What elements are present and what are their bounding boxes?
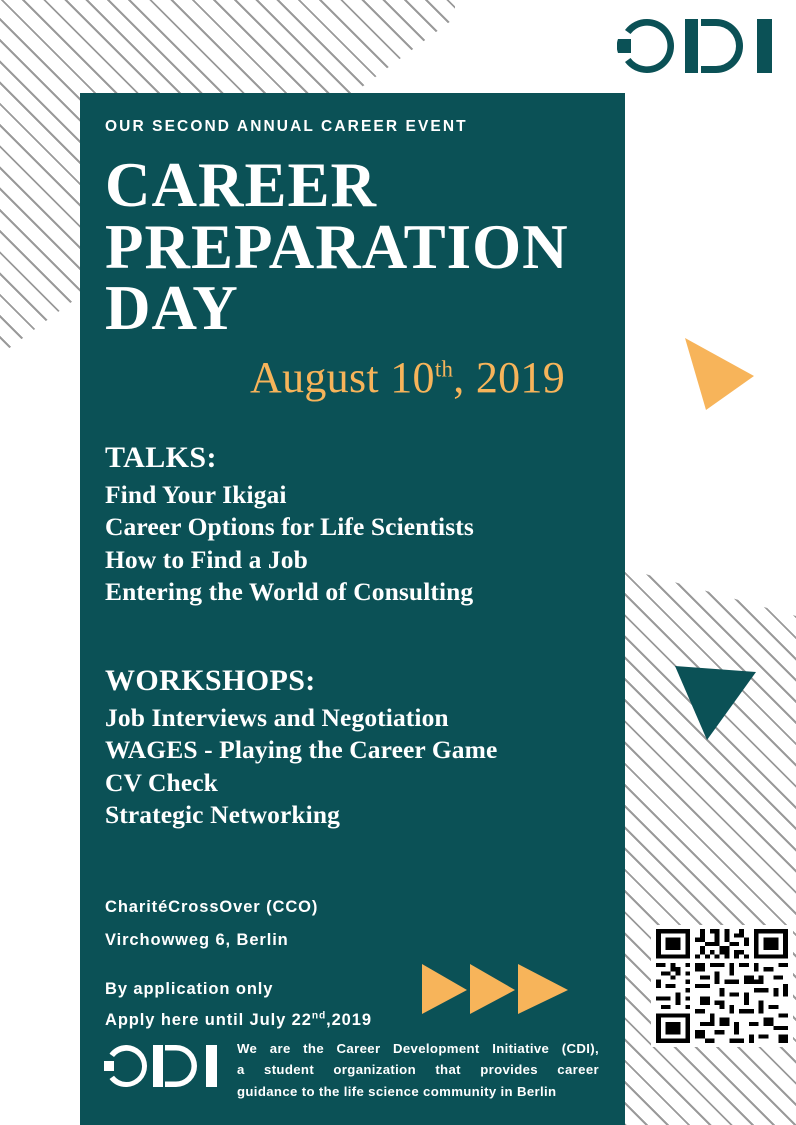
application-deadline-year: ,2019	[326, 1011, 372, 1029]
application-deadline-ordinal: nd	[312, 1011, 326, 1022]
right-arrow-icon	[518, 964, 568, 1014]
cdi-logo-top	[617, 14, 779, 78]
qr-code[interactable]	[651, 925, 793, 1047]
event-date-main: August 10	[250, 353, 435, 402]
right-arrow-icon	[470, 964, 515, 1014]
event-date-year: , 2019	[453, 353, 565, 402]
application-deadline-main: Apply here until July 22	[105, 1011, 312, 1029]
title-line-3: DAY	[105, 278, 625, 340]
event-date-ordinal: th	[435, 356, 453, 381]
talks-item: Find Your Ikigai	[105, 479, 625, 512]
teal-triangle-icon	[674, 664, 756, 740]
application-note: By application only	[105, 974, 372, 1005]
talks-item: How to Find a Job	[105, 544, 625, 577]
footer-line-1: We are the Career Development Initiative…	[237, 1038, 599, 1059]
arrow-icons-group	[422, 962, 574, 1014]
application-deadline: Apply here until July 22nd,2019	[105, 1005, 372, 1036]
workshops-item: Strategic Networking	[105, 799, 625, 832]
workshops-heading: WORKSHOPS:	[105, 664, 625, 699]
page-title: CAREER PREPARATION DAY	[105, 155, 625, 340]
poster-canvas: OUR SECOND ANNUAL CAREER EVENT CAREER PR…	[0, 0, 796, 1125]
footer: We are the Career Development Initiative…	[103, 1038, 613, 1102]
talks-heading: TALKS:	[105, 441, 625, 476]
footer-line-2: a student organization that provides car…	[237, 1059, 599, 1080]
orange-triangle-icon	[682, 336, 754, 410]
venue-address: Virchowweg 6, Berlin	[105, 924, 318, 957]
workshops-section: WORKSHOPS: Job Interviews and Negotiatio…	[105, 664, 625, 832]
kicker-text: OUR SECOND ANNUAL CAREER EVENT	[105, 118, 468, 136]
venue-name: CharitéCrossOver (CCO)	[105, 891, 318, 924]
workshops-item: CV Check	[105, 767, 625, 800]
event-date: August 10th, 2019	[250, 352, 565, 403]
venue-block: CharitéCrossOver (CCO) Virchowweg 6, Ber…	[105, 891, 318, 957]
title-line-2: PREPARATION	[105, 217, 625, 279]
cdi-logo-icon	[617, 14, 779, 78]
workshops-item: WAGES - Playing the Career Game	[105, 734, 625, 767]
talks-section: TALKS: Find Your Ikigai Career Options f…	[105, 441, 625, 609]
right-arrow-icon	[422, 964, 467, 1014]
cdi-logo-footer	[103, 1042, 223, 1092]
talks-item: Entering the World of Consulting	[105, 576, 625, 609]
footer-line-3: guidance to the life science community i…	[237, 1081, 599, 1102]
talks-item: Career Options for Life Scientists	[105, 511, 625, 544]
workshops-item: Job Interviews and Negotiation	[105, 702, 625, 735]
title-line-1: CAREER	[105, 155, 625, 217]
cdi-logo-icon	[103, 1042, 223, 1092]
footer-description: We are the Career Development Initiative…	[237, 1038, 599, 1102]
application-block: By application only Apply here until Jul…	[105, 974, 372, 1037]
